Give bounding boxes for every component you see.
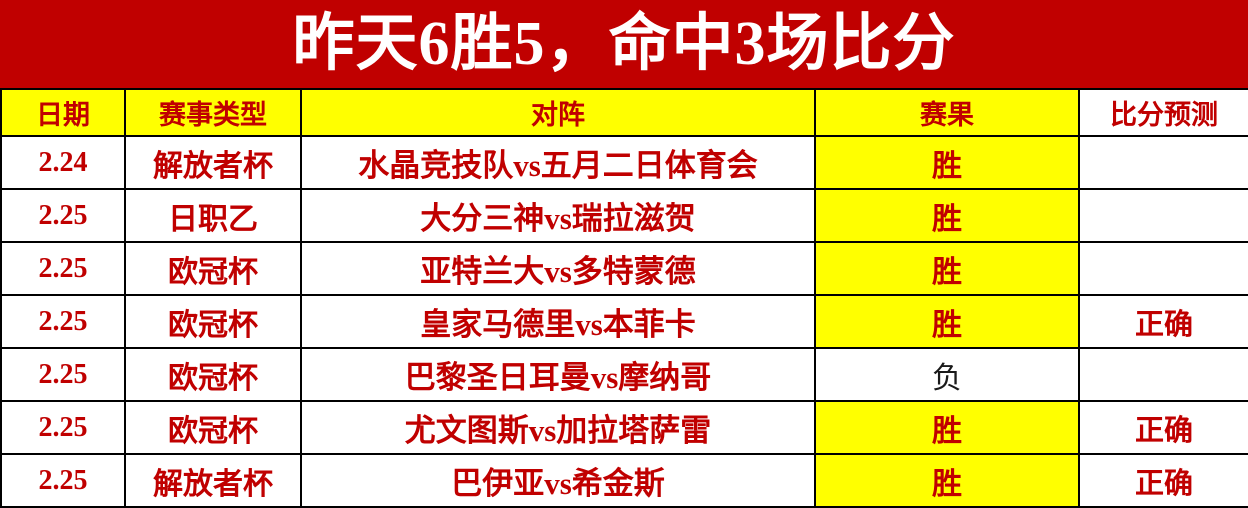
cell-result-win: 胜 bbox=[815, 189, 1079, 242]
match-results-table: 日期 赛事类型 对阵 赛果 比分预测 2.24解放者杯水晶竞技队vs五月二日体育… bbox=[0, 88, 1248, 508]
cell-date: 2.25 bbox=[1, 242, 125, 295]
cell-league: 欧冠杯 bbox=[125, 401, 301, 454]
cell-fixture: 巴黎圣日耳曼vs摩纳哥 bbox=[301, 348, 815, 401]
column-header-league: 赛事类型 bbox=[125, 89, 301, 136]
cell-result-win: 胜 bbox=[815, 454, 1079, 507]
cell-league: 欧冠杯 bbox=[125, 348, 301, 401]
cell-league: 日职乙 bbox=[125, 189, 301, 242]
table-body: 2.24解放者杯水晶竞技队vs五月二日体育会胜2.25日职乙大分三神vs瑞拉滋贺… bbox=[1, 136, 1248, 507]
cell-result-win: 胜 bbox=[815, 242, 1079, 295]
title-banner: 昨天6胜5，命中3场比分 bbox=[0, 0, 1248, 88]
cell-score-prediction bbox=[1079, 242, 1248, 295]
cell-date: 2.25 bbox=[1, 295, 125, 348]
cell-score-prediction: 正确 bbox=[1079, 401, 1248, 454]
table-row: 2.25欧冠杯巴黎圣日耳曼vs摩纳哥负 bbox=[1, 348, 1248, 401]
cell-league: 解放者杯 bbox=[125, 454, 301, 507]
cell-date: 2.25 bbox=[1, 454, 125, 507]
column-header-result: 赛果 bbox=[815, 89, 1079, 136]
table-row: 2.25欧冠杯尤文图斯vs加拉塔萨雷胜正确 bbox=[1, 401, 1248, 454]
cell-fixture: 尤文图斯vs加拉塔萨雷 bbox=[301, 401, 815, 454]
cell-league: 欧冠杯 bbox=[125, 295, 301, 348]
table-header: 日期 赛事类型 对阵 赛果 比分预测 bbox=[1, 89, 1248, 136]
cell-league: 欧冠杯 bbox=[125, 242, 301, 295]
table-row: 2.25欧冠杯亚特兰大vs多特蒙德胜 bbox=[1, 242, 1248, 295]
table-row: 2.24解放者杯水晶竞技队vs五月二日体育会胜 bbox=[1, 136, 1248, 189]
table-row: 2.25日职乙大分三神vs瑞拉滋贺胜 bbox=[1, 189, 1248, 242]
page-title: 昨天6胜5，命中3场比分 bbox=[292, 13, 955, 75]
cell-date: 2.25 bbox=[1, 401, 125, 454]
table-header-row: 日期 赛事类型 对阵 赛果 比分预测 bbox=[1, 89, 1248, 136]
cell-score-prediction bbox=[1079, 136, 1248, 189]
cell-score-prediction bbox=[1079, 348, 1248, 401]
cell-result-loss: 负 bbox=[815, 348, 1079, 401]
cell-date: 2.24 bbox=[1, 136, 125, 189]
cell-result-win: 胜 bbox=[815, 401, 1079, 454]
cell-fixture: 巴伊亚vs希金斯 bbox=[301, 454, 815, 507]
cell-date: 2.25 bbox=[1, 189, 125, 242]
column-header-date: 日期 bbox=[1, 89, 125, 136]
cell-score-prediction bbox=[1079, 189, 1248, 242]
cell-score-prediction: 正确 bbox=[1079, 295, 1248, 348]
column-header-fixture: 对阵 bbox=[301, 89, 815, 136]
cell-result-win: 胜 bbox=[815, 136, 1079, 189]
table-row: 2.25解放者杯巴伊亚vs希金斯胜正确 bbox=[1, 454, 1248, 507]
cell-fixture: 皇家马德里vs本菲卡 bbox=[301, 295, 815, 348]
cell-result-win: 胜 bbox=[815, 295, 1079, 348]
table-row: 2.25欧冠杯皇家马德里vs本菲卡胜正确 bbox=[1, 295, 1248, 348]
cell-date: 2.25 bbox=[1, 348, 125, 401]
cell-score-prediction: 正确 bbox=[1079, 454, 1248, 507]
cell-fixture: 亚特兰大vs多特蒙德 bbox=[301, 242, 815, 295]
cell-league: 解放者杯 bbox=[125, 136, 301, 189]
column-header-prediction: 比分预测 bbox=[1079, 89, 1248, 136]
match-results-page: 昨天6胜5，命中3场比分 日期 赛事类型 对阵 赛果 比分预测 2.24解放者杯… bbox=[0, 0, 1248, 506]
cell-fixture: 水晶竞技队vs五月二日体育会 bbox=[301, 136, 815, 189]
cell-fixture: 大分三神vs瑞拉滋贺 bbox=[301, 189, 815, 242]
